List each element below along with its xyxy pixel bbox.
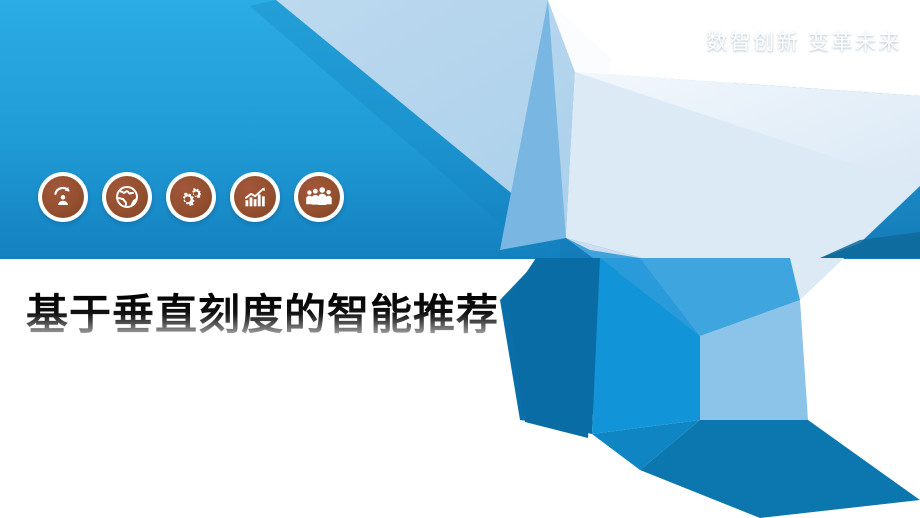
title-slide: 数智创新 变革未来 [0, 0, 920, 518]
icon-badge-gears[interactable] [166, 172, 216, 222]
icon-badge-globe[interactable] [102, 172, 152, 222]
people-group-icon [298, 176, 340, 218]
icon-badge-recycle-person[interactable] [38, 172, 88, 222]
recycle-person-icon [42, 176, 84, 218]
icon-strip [38, 172, 344, 222]
background-polygon-art [0, 0, 920, 518]
gears-icon [170, 176, 212, 218]
page-title: 基于垂直刻度的智能推荐 [26, 292, 499, 338]
tagline: 数智创新 变革未来 [706, 26, 902, 56]
bar-chart-icon [234, 176, 276, 218]
icon-badge-people-group[interactable] [294, 172, 344, 222]
icon-badge-bar-chart[interactable] [230, 172, 280, 222]
globe-icon [106, 176, 148, 218]
